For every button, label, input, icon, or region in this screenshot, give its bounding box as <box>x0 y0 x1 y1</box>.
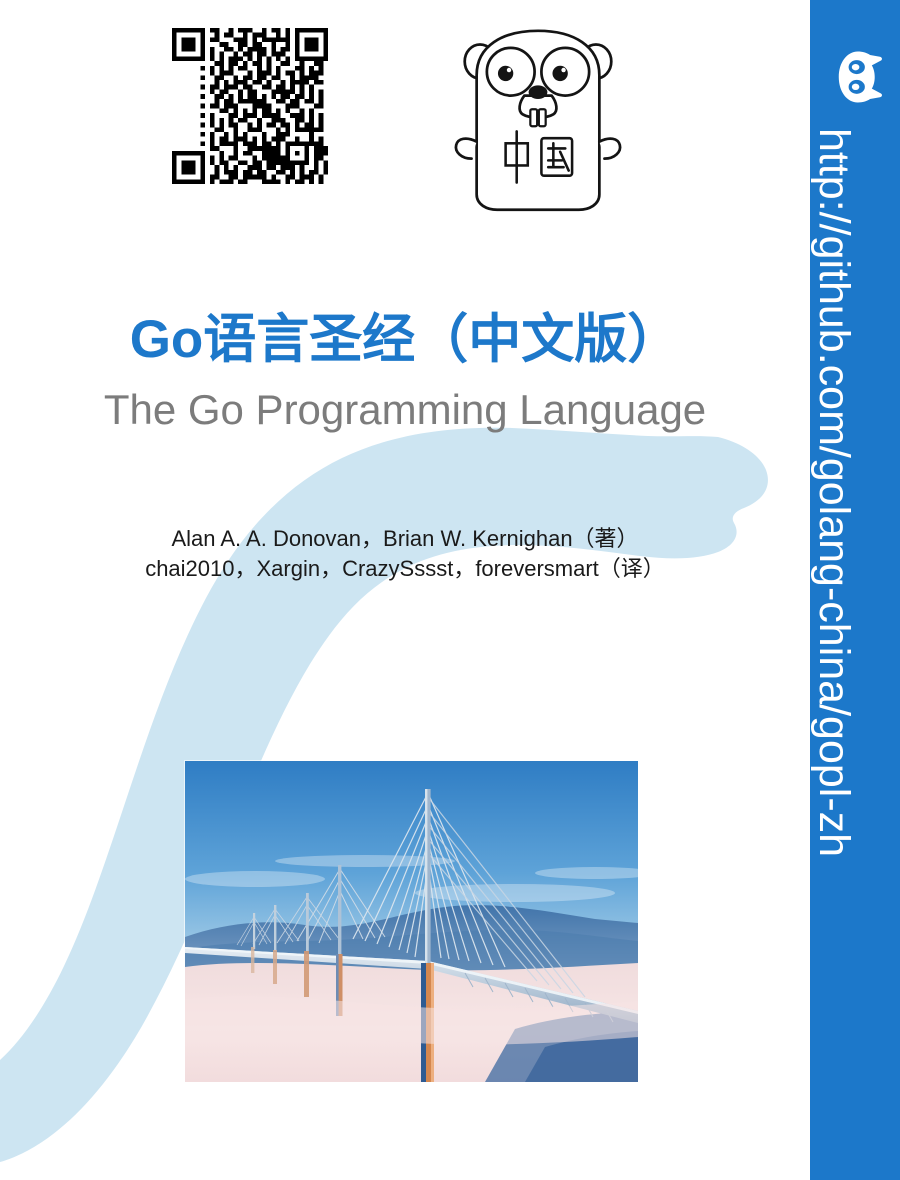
author-line-original: Alan A. A. Donovan，Brian W. Kernighan（著） <box>0 524 810 554</box>
author-block: Alan A. A. Donovan，Brian W. Kernighan（著）… <box>0 524 810 585</box>
page-title-en: The Go Programming Language <box>0 386 810 433</box>
book-cover: Go语言圣经（中文版） The Go Programming Language … <box>0 0 900 1180</box>
qr-code-icon <box>172 28 328 184</box>
github-octocat-icon <box>826 48 884 106</box>
github-url-strip[interactable]: http://github.com/golang-china/gopl-zh <box>810 0 900 1180</box>
github-url-text[interactable]: http://github.com/golang-china/gopl-zh <box>812 128 855 857</box>
bridge-photo <box>185 761 638 1082</box>
go-gopher-icon <box>452 24 624 220</box>
page-title-zh: Go语言圣经（中文版） <box>0 312 810 368</box>
author-line-translators: chai2010，Xargin，CrazySssst，foreversmart（… <box>0 554 810 584</box>
github-url-rotation-wrapper: http://github.com/golang-china/gopl-zh <box>810 120 900 1180</box>
